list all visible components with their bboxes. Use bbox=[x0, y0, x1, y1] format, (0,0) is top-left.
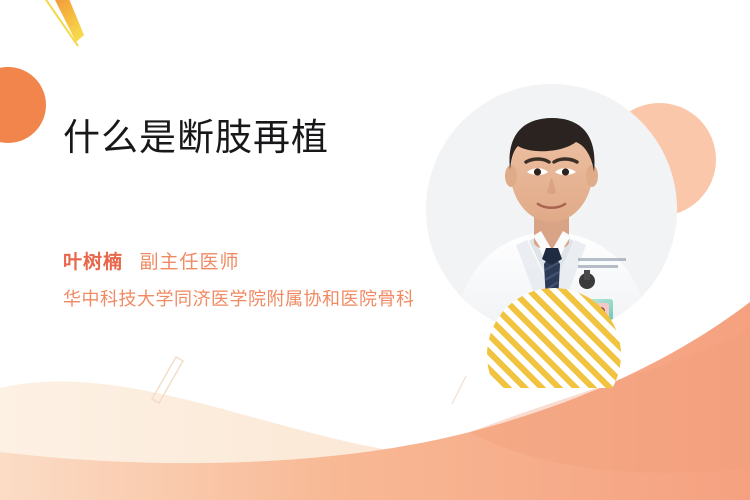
diagonal-stroke-decoration bbox=[26, 0, 116, 64]
page-title: 什么是断肢再植 bbox=[63, 117, 329, 160]
doctor-name: 叶树楠 bbox=[63, 252, 123, 273]
faint-diagonal-right bbox=[452, 376, 466, 404]
doctor-name-row: 叶树楠 副主任医师 bbox=[63, 247, 239, 274]
doctor-title: 副主任医师 bbox=[139, 252, 239, 273]
video-cover-card: 什么是断肢再植 叶树楠 副主任医师 华中科技大学同济医学院附属协和医院骨科 bbox=[0, 0, 750, 500]
stroke-thick-orange bbox=[52, 0, 84, 42]
doctor-affiliation: 华中科技大学同济医学院附属协和医院骨科 bbox=[63, 286, 458, 312]
